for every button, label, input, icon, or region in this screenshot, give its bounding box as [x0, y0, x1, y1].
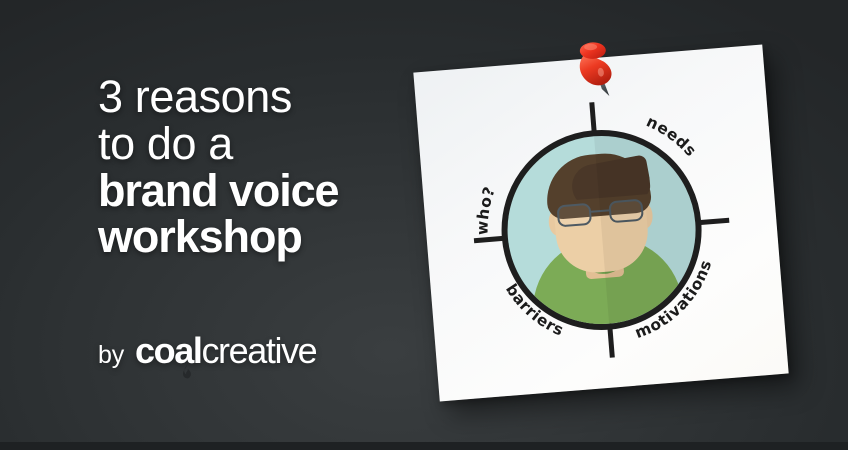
logo-by-label: by	[98, 341, 124, 370]
logo-coal-label: coal	[135, 330, 201, 371]
label-who: who?	[469, 182, 502, 236]
avatar-shading	[594, 128, 703, 323]
logo-coal-text: coal	[135, 330, 201, 372]
headline-line-4: workshop	[98, 214, 428, 261]
logo-creative-label: creative	[201, 330, 316, 372]
target-tick-bottom	[607, 325, 615, 357]
target-tick-right	[697, 217, 729, 225]
target-circle	[494, 122, 709, 337]
headline-line-1: 3 reasons	[98, 74, 428, 121]
persona-target-diagram: who? needs barriers motivations	[462, 90, 742, 370]
footer-strip	[0, 442, 848, 450]
promo-banner: 3 reasons to do a brand voice workshop b…	[0, 0, 848, 450]
logo-wordmark: coal creative	[135, 330, 316, 372]
label-who-text: who?	[469, 182, 502, 236]
headline-line-3: brand voice	[98, 168, 428, 215]
glasses-lens-left	[556, 202, 592, 227]
brand-logo[interactable]: by coal creative	[98, 330, 316, 372]
headline-line-2: to do a	[98, 121, 428, 168]
page-title: 3 reasons to do a brand voice workshop	[98, 74, 428, 261]
persona-avatar	[500, 128, 702, 330]
sticky-note-group: who? needs barriers motivations	[408, 38, 798, 410]
